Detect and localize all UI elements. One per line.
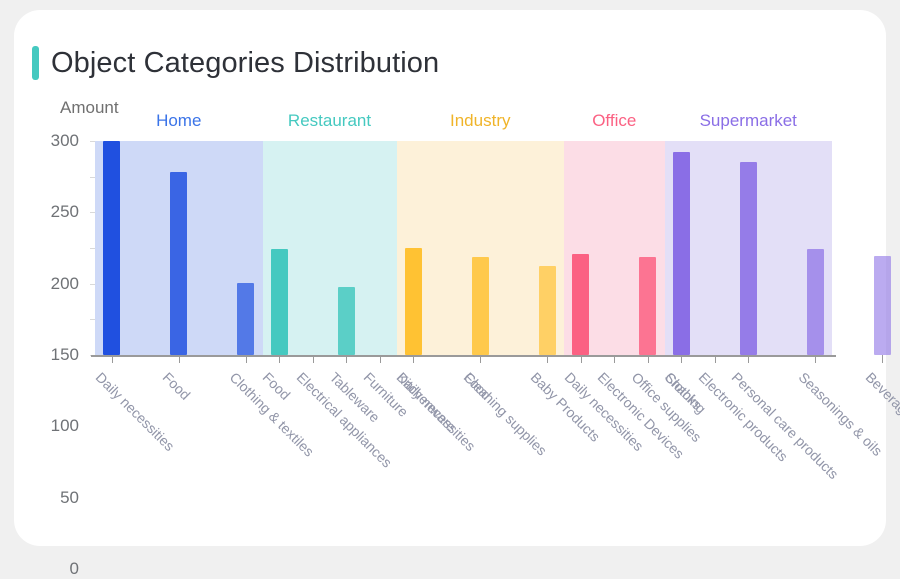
x-axis-tick-label: Food [159, 369, 193, 403]
bar[interactable] [673, 152, 690, 355]
bar[interactable] [237, 283, 254, 355]
bar[interactable] [639, 257, 656, 355]
group-label-home: Home [156, 111, 201, 131]
bar[interactable] [338, 287, 355, 355]
group-label-supermarket: Supermarket [700, 111, 797, 131]
bar[interactable] [874, 256, 891, 355]
bar[interactable] [170, 172, 187, 355]
bar[interactable] [103, 141, 120, 355]
bar[interactable] [539, 266, 556, 355]
y-axis-label: Amount [60, 98, 119, 118]
bar[interactable] [271, 249, 288, 355]
y-axis-tick-label: 50 [60, 488, 79, 508]
page-title: Object Categories Distribution [51, 47, 439, 80]
y-axis-tick-label: 200 [51, 274, 79, 294]
group-label-industry: Industry [450, 111, 510, 131]
title-accent-bar [32, 46, 39, 80]
plot-area: 050100150200250300HomeDaily necessitiesF… [95, 141, 832, 355]
chart-card: Object Categories Distribution Amount 05… [14, 10, 886, 546]
bar[interactable] [472, 257, 489, 355]
bar[interactable] [405, 248, 422, 355]
bar[interactable] [740, 162, 757, 355]
x-axis-line [91, 355, 836, 357]
title-row: Object Categories Distribution [32, 46, 439, 80]
bar[interactable] [572, 254, 589, 355]
group-label-office: Office [592, 111, 636, 131]
y-axis-tick-label: 300 [51, 131, 79, 151]
y-axis-tick-label: 100 [51, 416, 79, 436]
bar[interactable] [807, 249, 824, 355]
y-axis-tick-label: 150 [51, 345, 79, 365]
group-label-restaurant: Restaurant [288, 111, 371, 131]
y-axis-tick-label: 0 [70, 559, 79, 579]
y-axis-tick-label: 250 [51, 202, 79, 222]
x-axis-tick-label: Beverages [863, 369, 900, 428]
x-axis-tick [882, 355, 883, 363]
